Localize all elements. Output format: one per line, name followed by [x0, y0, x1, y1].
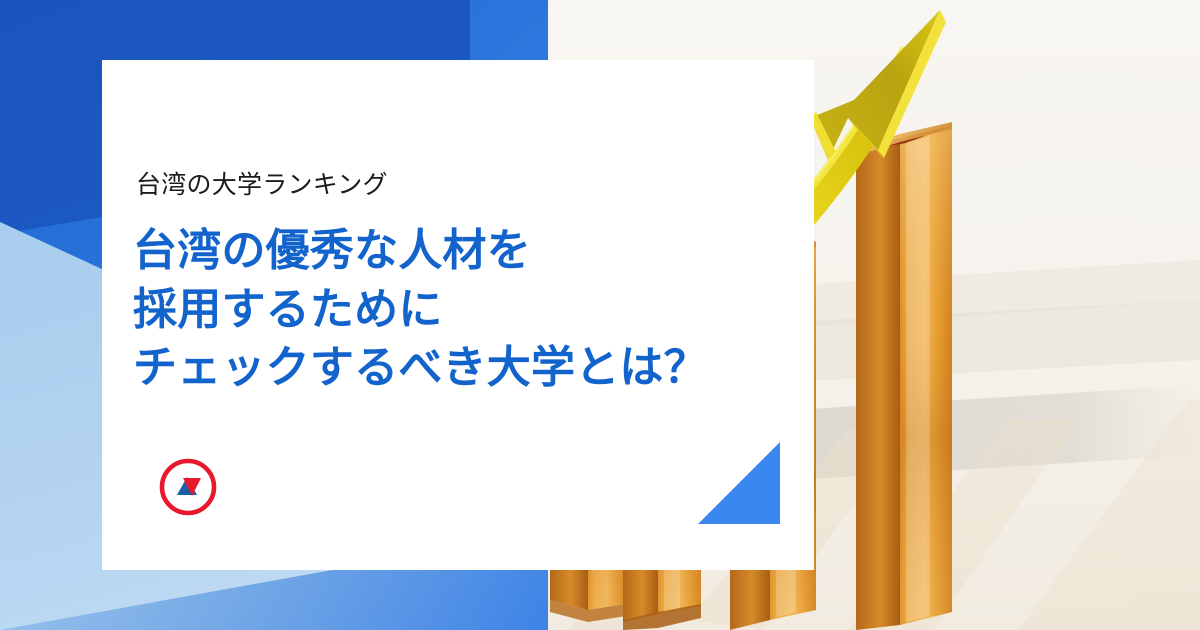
og-image-canvas: 台湾の大学ランキング 台湾の優秀な人材を 採用するために チェックするべき大学と…: [0, 0, 1200, 630]
page-title-line-2: 採用するために: [133, 281, 708, 340]
accent-triangle: [698, 442, 780, 524]
eyebrow-label: 台湾の大学ランキング: [136, 165, 388, 201]
brand-logo: [157, 456, 219, 518]
content-card: 台湾の大学ランキング 台湾の優秀な人材を 採用するために チェックするべき大学と…: [102, 60, 814, 570]
page-title-line-3: チェックするべき大学とは？: [133, 339, 708, 398]
page-title: 台湾の優秀な人材を 採用するために チェックするべき大学とは？: [133, 222, 708, 398]
page-title-line-1: 台湾の優秀な人材を: [133, 222, 708, 281]
chart-bar-4: [856, 122, 952, 630]
